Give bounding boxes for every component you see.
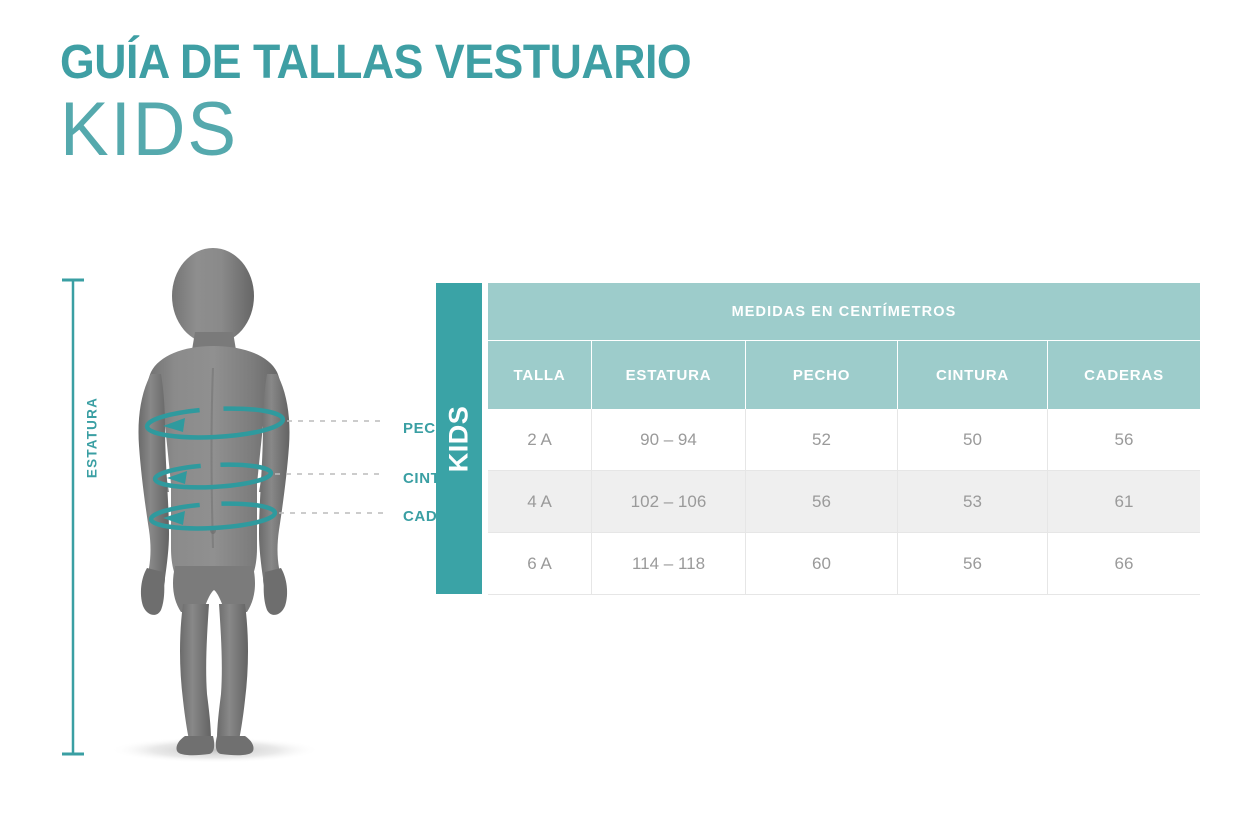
- size-table: KIDS MEDIDAS EN CENTÍMETROS TALLA ESTATU…: [436, 283, 1200, 594]
- title-block: GUÍA DE TALLAS VESTUARIO KIDS: [60, 38, 960, 168]
- column-header-pecho: PECHO: [746, 341, 898, 409]
- cell-cintura: 56: [898, 533, 1048, 594]
- page-subtitle: KIDS: [60, 92, 924, 168]
- cell-estatura: 90 – 94: [592, 409, 746, 470]
- height-ruler-icon: [58, 258, 88, 760]
- cell-talla: 6 A: [488, 533, 592, 594]
- cell-talla: 4 A: [488, 471, 592, 532]
- table-column-header-row: TALLA ESTATURA PECHO CINTURA CADERAS: [488, 340, 1200, 409]
- cell-cintura: 53: [898, 471, 1048, 532]
- table-row: 2 A 90 – 94 52 50 56: [488, 409, 1200, 471]
- column-header-talla: TALLA: [488, 341, 592, 409]
- cell-caderas: 66: [1048, 533, 1200, 594]
- column-header-caderas: CADERAS: [1048, 341, 1200, 409]
- table-band-title: MEDIDAS EN CENTÍMETROS: [488, 283, 1200, 340]
- cell-pecho: 56: [746, 471, 898, 532]
- page-title: GUÍA DE TALLAS VESTUARIO: [60, 38, 897, 88]
- table-row: 6 A 114 – 118 60 56 66: [488, 533, 1200, 595]
- cell-talla: 2 A: [488, 409, 592, 470]
- cell-caderas: 61: [1048, 471, 1200, 532]
- mannequin-figure: PECHO CINTURA CADERAS: [95, 248, 345, 768]
- side-label-text: KIDS: [444, 405, 475, 472]
- cell-caderas: 56: [1048, 409, 1200, 470]
- table-side-label-kids: KIDS: [436, 283, 482, 594]
- table-row: 4 A 102 – 106 56 53 61: [488, 471, 1200, 533]
- measurement-figure-panel: ESTATURA: [0, 240, 430, 780]
- cell-estatura: 102 – 106: [592, 471, 746, 532]
- cell-estatura: 114 – 118: [592, 533, 746, 594]
- column-header-cintura: CINTURA: [898, 341, 1048, 409]
- cell-pecho: 52: [746, 409, 898, 470]
- column-header-estatura: ESTATURA: [592, 341, 746, 409]
- cell-cintura: 50: [898, 409, 1048, 470]
- table-body: MEDIDAS EN CENTÍMETROS TALLA ESTATURA PE…: [488, 283, 1200, 594]
- height-ruler: ESTATURA: [58, 258, 88, 760]
- cell-pecho: 60: [746, 533, 898, 594]
